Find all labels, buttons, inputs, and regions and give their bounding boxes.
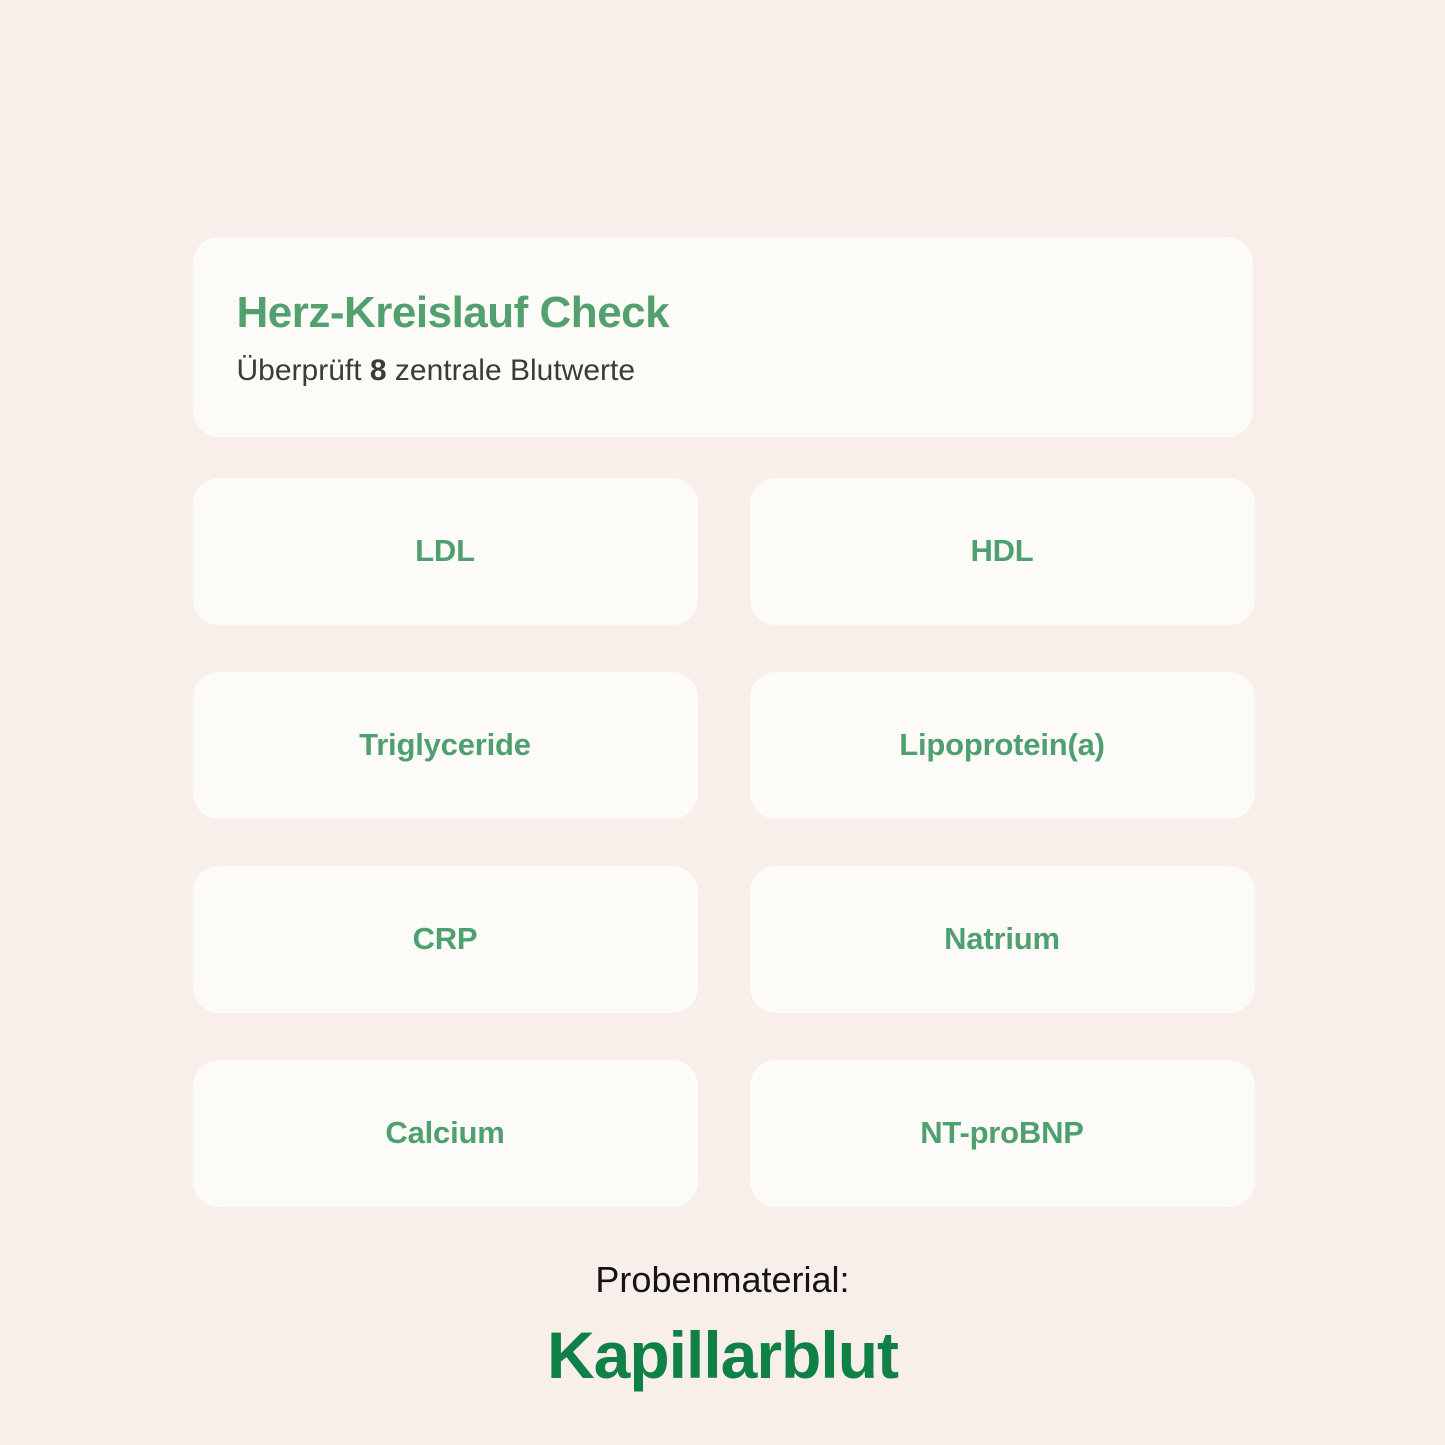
subtitle-count: 8 (370, 354, 387, 387)
marker-label: LDL (415, 534, 475, 568)
marker-label: NT-proBNP (920, 1116, 1084, 1150)
marker-label: Natrium (944, 922, 1060, 956)
sample-material-label: Probenmaterial: (193, 1259, 1253, 1300)
content-column: Herz-Kreislauf Check Überprüft 8 zentral… (193, 237, 1253, 1397)
sample-material-section: Probenmaterial: Kapillarblut (193, 1259, 1253, 1397)
marker-label: Calcium (385, 1116, 504, 1150)
page-title: Herz-Kreislauf Check (237, 289, 1209, 337)
subtitle-suffix: zentrale Blutwerte (387, 354, 635, 387)
marker-card-calcium[interactable]: Calcium (193, 1060, 698, 1207)
marker-card-nt-probnp[interactable]: NT-proBNP (750, 1060, 1255, 1207)
poster-root: Herz-Kreislauf Check Überprüft 8 zentral… (0, 0, 1445, 1445)
marker-label: Triglyceride (359, 728, 531, 762)
marker-label: HDL (970, 534, 1033, 568)
marker-card-hdl[interactable]: HDL (750, 478, 1255, 625)
marker-grid: LDL HDL Triglyceride Lipoprotein(a) CRP … (193, 478, 1253, 1207)
marker-label: CRP (413, 922, 478, 956)
marker-label: Lipoprotein(a) (899, 728, 1105, 762)
header-card: Herz-Kreislauf Check Überprüft 8 zentral… (193, 237, 1253, 437)
sample-material-value: Kapillarblut (193, 1314, 1253, 1397)
marker-card-crp[interactable]: CRP (193, 866, 698, 1013)
marker-card-natrium[interactable]: Natrium (750, 866, 1255, 1013)
marker-card-triglyceride[interactable]: Triglyceride (193, 672, 698, 819)
subtitle-prefix: Überprüft (237, 354, 370, 387)
header-subtitle: Überprüft 8 zentrale Blutwerte (237, 353, 1209, 389)
marker-card-lipoprotein-a[interactable]: Lipoprotein(a) (750, 672, 1255, 819)
marker-card-ldl[interactable]: LDL (193, 478, 698, 625)
